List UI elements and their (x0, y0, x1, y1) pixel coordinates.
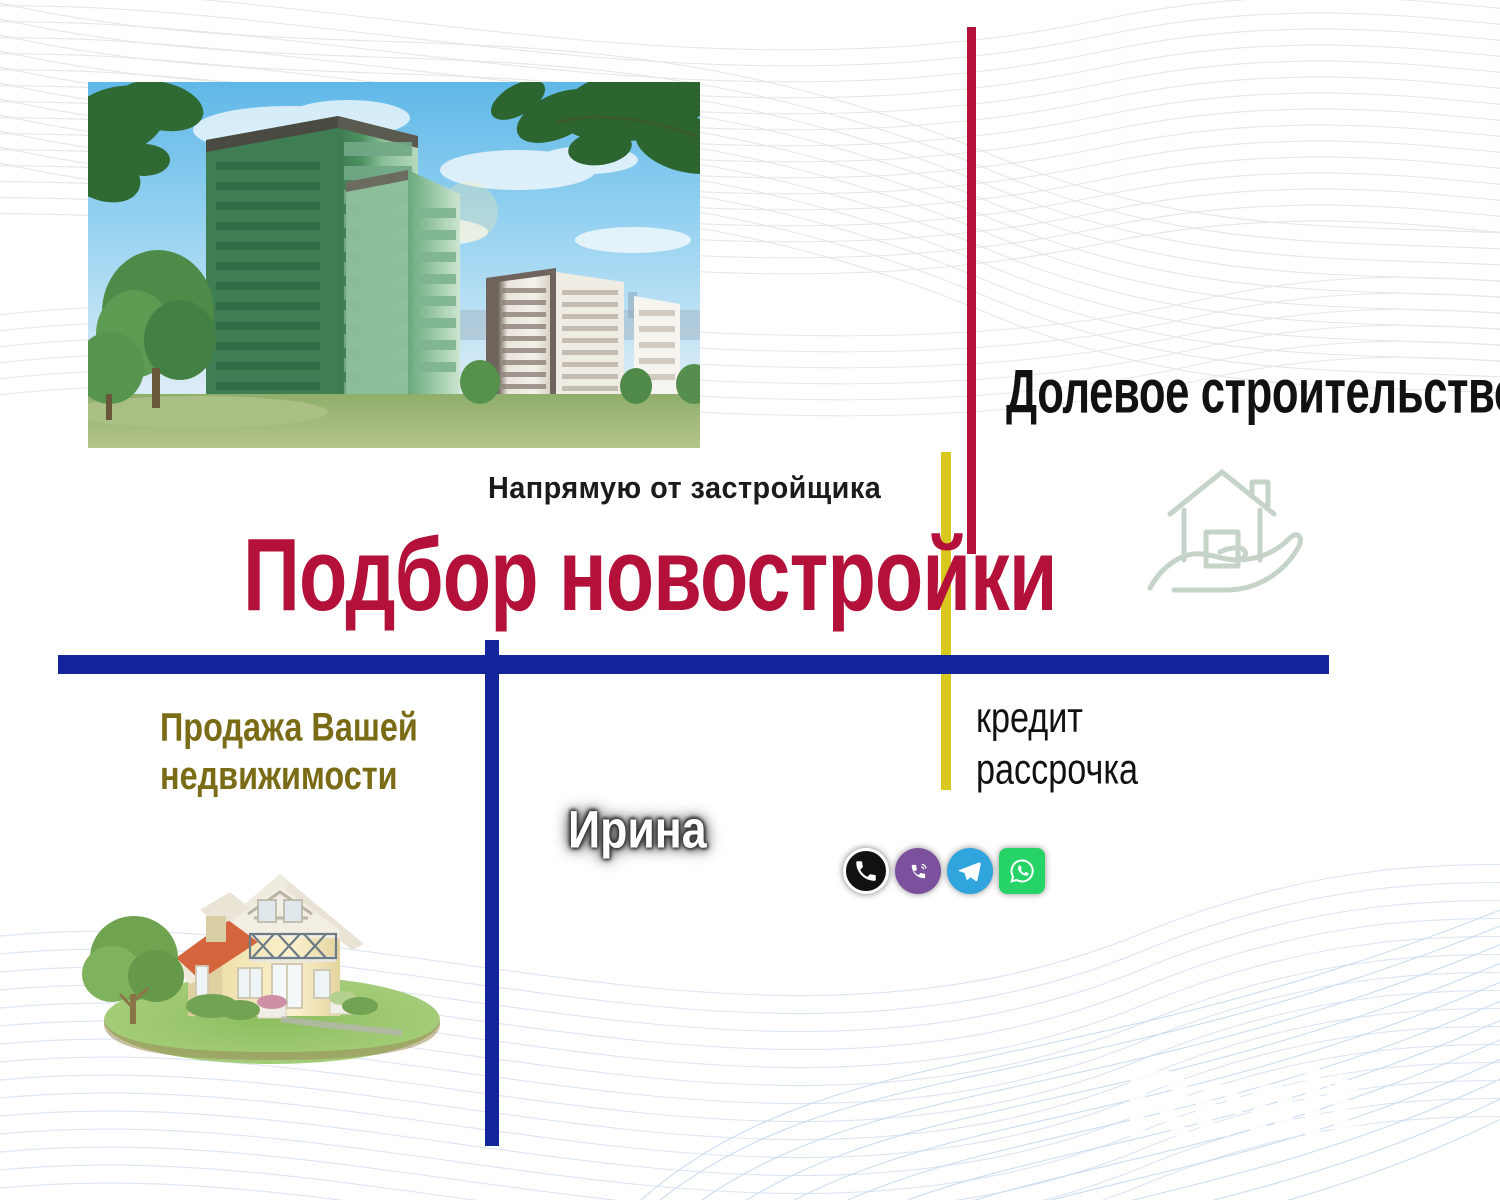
contact-icons-row[interactable] (843, 845, 1045, 897)
blue-horizontal-rule (58, 655, 1329, 674)
page-title: Подбор новостройки (243, 524, 1057, 627)
sell-line-2: недвижимости (160, 751, 430, 799)
blue-vertical-rule (485, 640, 499, 1146)
realt-watermark: Realt (1125, 1052, 1360, 1157)
sell-your-property-block: Продажа Вашей недвижимости (160, 703, 430, 800)
red-vertical-rule (967, 27, 976, 554)
viber-icon[interactable] (895, 848, 941, 894)
real-estate-poster: Realt (0, 0, 1500, 1200)
shared-construction-title: Долевое строительство (1006, 357, 1500, 428)
cottage-house-illustration (72, 838, 462, 1084)
phone-icon[interactable] (843, 848, 889, 894)
new-apartment-buildings-photo (88, 82, 700, 448)
financing-block: кредит рассрочка (976, 693, 1246, 797)
financing-line-credit: кредит (976, 695, 1083, 742)
house-in-hand-icon (1140, 448, 1315, 608)
whatsapp-icon[interactable] (999, 848, 1045, 894)
telegram-icon[interactable] (947, 848, 993, 894)
agent-name: Ирина (568, 800, 707, 861)
financing-line-installment: рассрочка (976, 745, 1246, 797)
kicker-direct-from-developer: Напрямую от застройщика (488, 470, 881, 506)
sell-line-1: Продажа Вашей (160, 704, 418, 749)
